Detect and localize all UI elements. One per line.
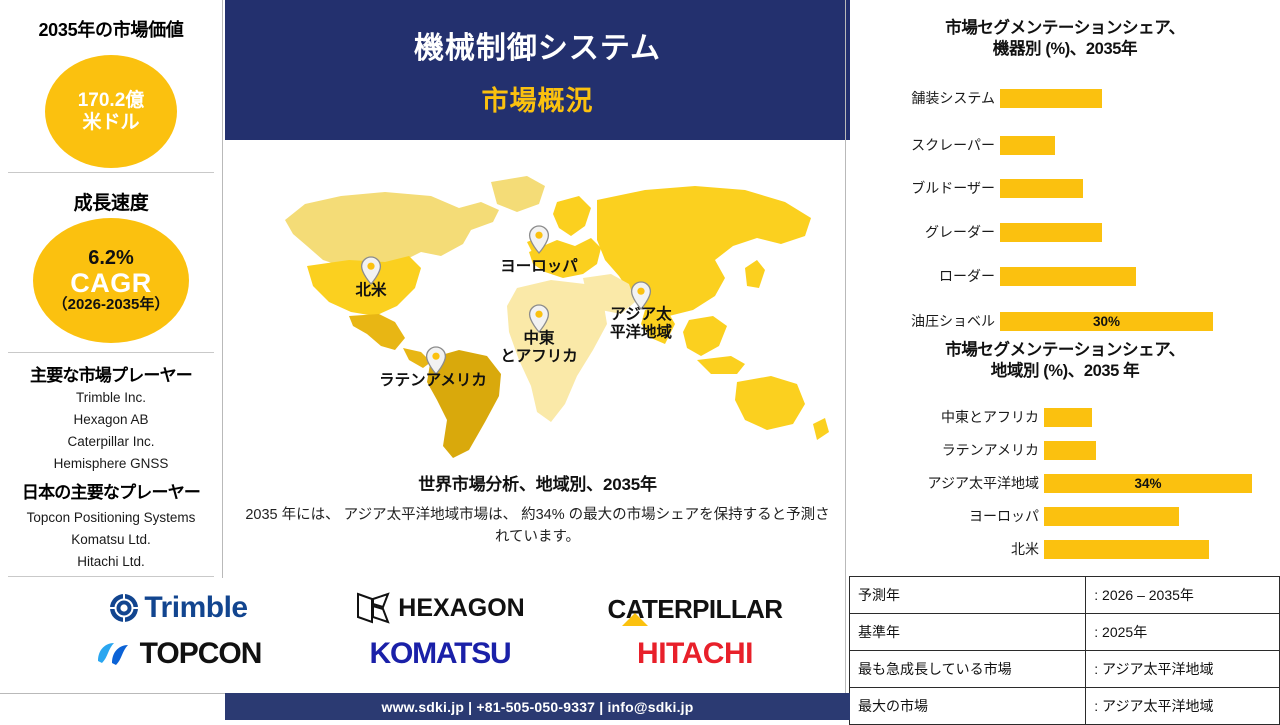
table-value-0: : 2026 – 2035年 [1086, 577, 1280, 614]
japan-players-heading: 日本の主要なプレーヤー [0, 478, 222, 503]
market-value-heading: 2035年の市場価値 [0, 16, 222, 42]
key-players-heading: 主要な市場プレーヤー [0, 361, 222, 386]
map-pin-europe[interactable] [528, 225, 550, 254]
key-player-4: Hemisphere GNSS [0, 456, 222, 471]
page-subtitle: 市場概況 [482, 79, 594, 118]
logo-strip: Trimble TOPCON HEXAGON KOMATSU [0, 578, 845, 693]
map-caption-body: 2035 年には、 アジア太平洋地域市場は、 約34% の最大の市場シェアを保持… [225, 505, 850, 549]
chart1-title-line2: 機器別 (%)、2035年 [850, 39, 1280, 60]
chart2-bar-4 [1044, 540, 1209, 559]
chart1-row-2: ブルドーザー [850, 175, 1280, 201]
chart1-label-5: 油圧ショベル [850, 308, 995, 334]
chart1-row-3: グレーダー [850, 219, 1280, 245]
cagr-rate: 6.2% [88, 247, 134, 269]
logo-strip-bottom-border [0, 693, 225, 694]
divider-2 [8, 352, 214, 353]
logo-hexagon: HEXAGON [340, 588, 540, 628]
chart2-label-4: 北米 [850, 536, 1039, 562]
table-key-3: 最大の市場 [850, 688, 1086, 725]
region-greenland [491, 176, 545, 212]
logo-topcon: TOPCON [90, 634, 265, 674]
footer-contact-bar: www.sdki.jp | +81-505-050-9337 | info@sd… [225, 693, 850, 720]
trimble-wordmark: Trimble [144, 591, 247, 625]
table-key-2: 最も急成長している市場 [850, 651, 1086, 688]
divider-1 [8, 172, 214, 173]
map-label-mea-line2: とアフリカ [479, 348, 599, 366]
table-row: 基準年 : 2025年 [850, 614, 1280, 651]
market-value-line2: 米ドル [82, 112, 139, 133]
table-value-2: : アジア太平洋地域 [1086, 651, 1280, 688]
charts-panel: 市場セグメンテーションシェア、 機器別 (%)、2035年 舗装システム スクレ… [850, 0, 1280, 572]
japan-player-3: Hitachi Ltd. [0, 554, 222, 569]
region-scandinavia [553, 196, 591, 236]
growth-heading: 成長速度 [0, 188, 222, 215]
chart2-row-4: 北米 [850, 536, 1280, 562]
hitachi-wordmark: HITACHI [637, 637, 753, 671]
map-label-middle-east-africa: 中東 とアフリカ [479, 330, 599, 366]
table-row: 予測年 : 2026 – 2035年 [850, 577, 1280, 614]
chart2-value-2: 34% [1044, 474, 1252, 493]
map-label-asia-pacific-line1: アジア太 [581, 306, 701, 324]
key-player-3: Caterpillar Inc. [0, 434, 222, 449]
footer-text: www.sdki.jp | +81-505-050-9337 | info@sd… [381, 699, 693, 715]
japan-player-2: Komatsu Ltd. [0, 532, 222, 547]
chart1-row-5: 油圧ショベル 30% [850, 308, 1280, 334]
map-label-north-america: 北米 [331, 282, 411, 300]
chart2-bar-3 [1044, 507, 1179, 526]
chart2-row-3: ヨーロッパ [850, 503, 1280, 529]
chart2-title-line1: 市場セグメンテーションシェア、 [850, 340, 1280, 361]
chart2-bar-0 [1044, 408, 1092, 427]
region-australia [735, 376, 805, 430]
map-caption: 世界市場分析、地域別、2035年 2035 年には、 アジア太平洋地域市場は、 … [225, 470, 850, 549]
hexagon-wordmark: HEXAGON [398, 594, 524, 623]
map-label-asia-pacific-line2: 平洋地域 [581, 324, 701, 342]
cagr-metric: CAGR [70, 268, 152, 298]
chart1-row-1: スクレーパー [850, 132, 1280, 158]
chart1-label-2: ブルドーザー [850, 175, 995, 201]
page-title: 機械制御システム [414, 23, 661, 67]
map-label-mea-line1: 中東 [479, 330, 599, 348]
chart1-bar-1 [1000, 136, 1055, 155]
chart1-label-0: 舗装システム [850, 85, 995, 111]
key-player-2: Hexagon AB [0, 412, 222, 427]
chart1-bar-3 [1000, 223, 1102, 242]
table-row: 最も急成長している市場 : アジア太平洋地域 [850, 651, 1280, 688]
chart1-bar-4 [1000, 267, 1136, 286]
hexagon-mark-icon [355, 591, 391, 625]
market-value-line1: 170.2億 [78, 90, 145, 111]
right-panel-border [845, 0, 846, 720]
chart2-title-line2: 地域別 (%)、2035 年 [850, 361, 1280, 382]
topcon-wordmark: TOPCON [140, 637, 262, 671]
trimble-globe-icon [107, 592, 141, 624]
chart2-label-3: ヨーロッパ [850, 503, 1039, 529]
chart1-label-1: スクレーパー [850, 132, 995, 158]
market-value-ellipse: 170.2億 米ドル [45, 55, 177, 168]
region-indonesia [697, 356, 745, 374]
logo-hitachi: HITACHI [590, 634, 800, 674]
chart1-row-4: ローダー [850, 263, 1280, 289]
chart2-label-1: ラテンアメリカ [850, 437, 1039, 463]
chart2-row-2: アジア太平洋地域 34% [850, 470, 1280, 496]
region-mexico [349, 314, 405, 350]
map-pin-middle-east-africa[interactable] [528, 304, 550, 333]
chart2-bar-1 [1044, 441, 1096, 460]
key-player-1: Trimble Inc. [0, 390, 222, 405]
chart1-label-3: グレーダー [850, 219, 995, 245]
japan-player-1: Topcon Positioning Systems [0, 510, 222, 525]
chart1-bar-0 [1000, 89, 1102, 108]
topcon-mark-icon [94, 639, 136, 669]
map-caption-title: 世界市場分析、地域別、2035年 [225, 470, 850, 495]
cagr-ellipse: 6.2% CAGR （2026-2035年） [33, 218, 189, 343]
chart1-bar-2 [1000, 179, 1083, 198]
table-row: 最大の市場 : アジア太平洋地域 [850, 688, 1280, 725]
chart2-label-0: 中東とアフリカ [850, 404, 1039, 430]
map-pin-north-america[interactable] [360, 256, 382, 285]
map-label-europe: ヨーロッパ [469, 258, 609, 276]
chart2-label-2: アジア太平洋地域 [850, 470, 1039, 496]
infographic-page: 2035年の市場価値 170.2億 米ドル 成長速度 6.2% CAGR （20… [0, 0, 1280, 720]
caterpillar-triangle-icon [622, 613, 648, 626]
logo-trimble: Trimble [90, 588, 265, 628]
world-map-section: 北米 ヨーロッパ アジア太 平洋地域 中東 とアフリカ ラテンアメリカ [225, 140, 850, 470]
map-pin-latin-america[interactable] [425, 346, 447, 375]
logo-komatsu: KOMATSU [340, 634, 540, 674]
table-value-3: : アジア太平洋地域 [1086, 688, 1280, 725]
chart1-label-4: ローダー [850, 263, 995, 289]
summary-table: 予測年 : 2026 – 2035年 基準年 : 2025年 最も急成長している… [849, 576, 1280, 725]
chart2-row-1: ラテンアメリカ [850, 437, 1280, 463]
header-banner: 機械制御システム 市場概況 [225, 0, 850, 140]
region-japan [745, 260, 765, 288]
divider-3 [8, 576, 214, 577]
map-label-asia-pacific: アジア太 平洋地域 [581, 306, 701, 342]
chart1-row-0: 舗装システム [850, 85, 1280, 111]
map-label-latin-america: ラテンアメリカ [343, 372, 523, 390]
table-key-0: 予測年 [850, 577, 1086, 614]
table-key-1: 基準年 [850, 614, 1086, 651]
chart1-title-line1: 市場セグメンテーションシェア、 [850, 18, 1280, 39]
chart2-row-0: 中東とアフリカ [850, 404, 1280, 430]
region-new-zealand [813, 418, 829, 440]
chart1-title: 市場セグメンテーションシェア、 機器別 (%)、2035年 [850, 18, 1280, 60]
logo-caterpillar: CATERPILLAR [590, 588, 800, 630]
chart1-value-5: 30% [1000, 312, 1213, 331]
cagr-period: （2026-2035年） [53, 297, 170, 314]
table-value-1: : 2025年 [1086, 614, 1280, 651]
komatsu-wordmark: KOMATSU [369, 637, 510, 671]
chart2-title: 市場セグメンテーションシェア、 地域別 (%)、2035 年 [850, 340, 1280, 382]
